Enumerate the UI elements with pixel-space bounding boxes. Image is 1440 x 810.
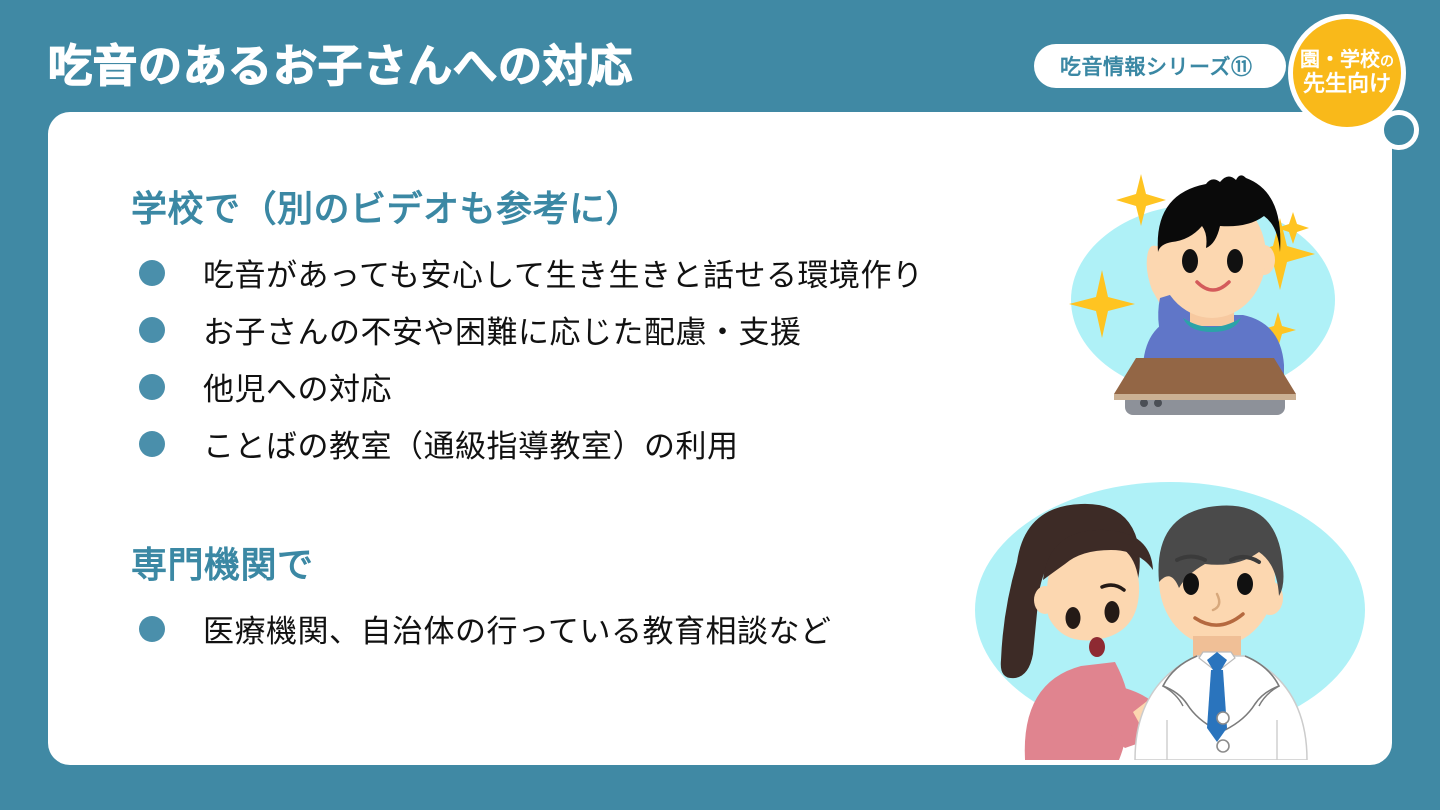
illustration-boy-raising-hand bbox=[1040, 160, 1370, 420]
audience-badge: 園・学校の 先生向け bbox=[1288, 14, 1406, 132]
bullet-dot-icon bbox=[139, 374, 165, 400]
audience-badge-line1-suffix: の bbox=[1380, 53, 1394, 69]
bullet-dot-icon bbox=[139, 260, 165, 286]
section-school-bullets: 吃音があっても安心して生き生きと話せる環境作り お子さんの不安や困難に応じた配慮… bbox=[131, 244, 923, 472]
audience-badge-line2: 先生向け bbox=[1303, 72, 1391, 97]
list-item: 他児への対応 bbox=[131, 358, 923, 415]
list-item: 医療機関、自治体の行っている教育相談など bbox=[131, 600, 831, 657]
content-card: 学校で（別のビデオも参考に） 吃音があっても安心して生き生きと話せる環境作り お… bbox=[48, 112, 1392, 765]
section-school-heading: 学校で（別のビデオも参考に） bbox=[131, 180, 923, 232]
section-expert-heading: 専門機関で bbox=[131, 536, 831, 588]
page-title: 吃音のあるお子さんへの対応 bbox=[48, 30, 633, 94]
series-badge-label: 吃音情報シリーズ⑪ bbox=[1060, 51, 1252, 81]
series-badge: 吃音情報シリーズ⑪ bbox=[1034, 44, 1286, 88]
list-item-label: お子さんの不安や困難に応じた配慮・支援 bbox=[203, 307, 802, 352]
list-item: ことばの教室（通級指導教室）の利用 bbox=[131, 415, 923, 472]
bullet-dot-icon bbox=[139, 431, 165, 457]
list-item-label: 医療機関、自治体の行っている教育相談など bbox=[203, 606, 831, 651]
section-school: 学校で（別のビデオも参考に） 吃音があっても安心して生き生きと話せる環境作り お… bbox=[131, 180, 923, 472]
bullet-dot-icon bbox=[139, 616, 165, 642]
bullet-dot-icon bbox=[139, 317, 165, 343]
list-item: お子さんの不安や困難に応じた配慮・支援 bbox=[131, 301, 923, 358]
list-item-label: 吃音があっても安心して生き生きと話せる環境作り bbox=[203, 250, 923, 295]
illustration-parent-and-doctor bbox=[955, 470, 1375, 760]
section-expert-bullets: 医療機関、自治体の行っている教育相談など bbox=[131, 600, 831, 657]
audience-badge-line1: 園・学校の bbox=[1300, 49, 1394, 71]
list-item-label: 他児への対応 bbox=[203, 364, 392, 409]
audience-badge-line1-text: 園・学校 bbox=[1300, 49, 1380, 71]
section-expert: 専門機関で 医療機関、自治体の行っている教育相談など bbox=[131, 536, 831, 657]
list-item: 吃音があっても安心して生き生きと話せる環境作り bbox=[131, 244, 923, 301]
list-item-label: ことばの教室（通級指導教室）の利用 bbox=[203, 421, 739, 466]
